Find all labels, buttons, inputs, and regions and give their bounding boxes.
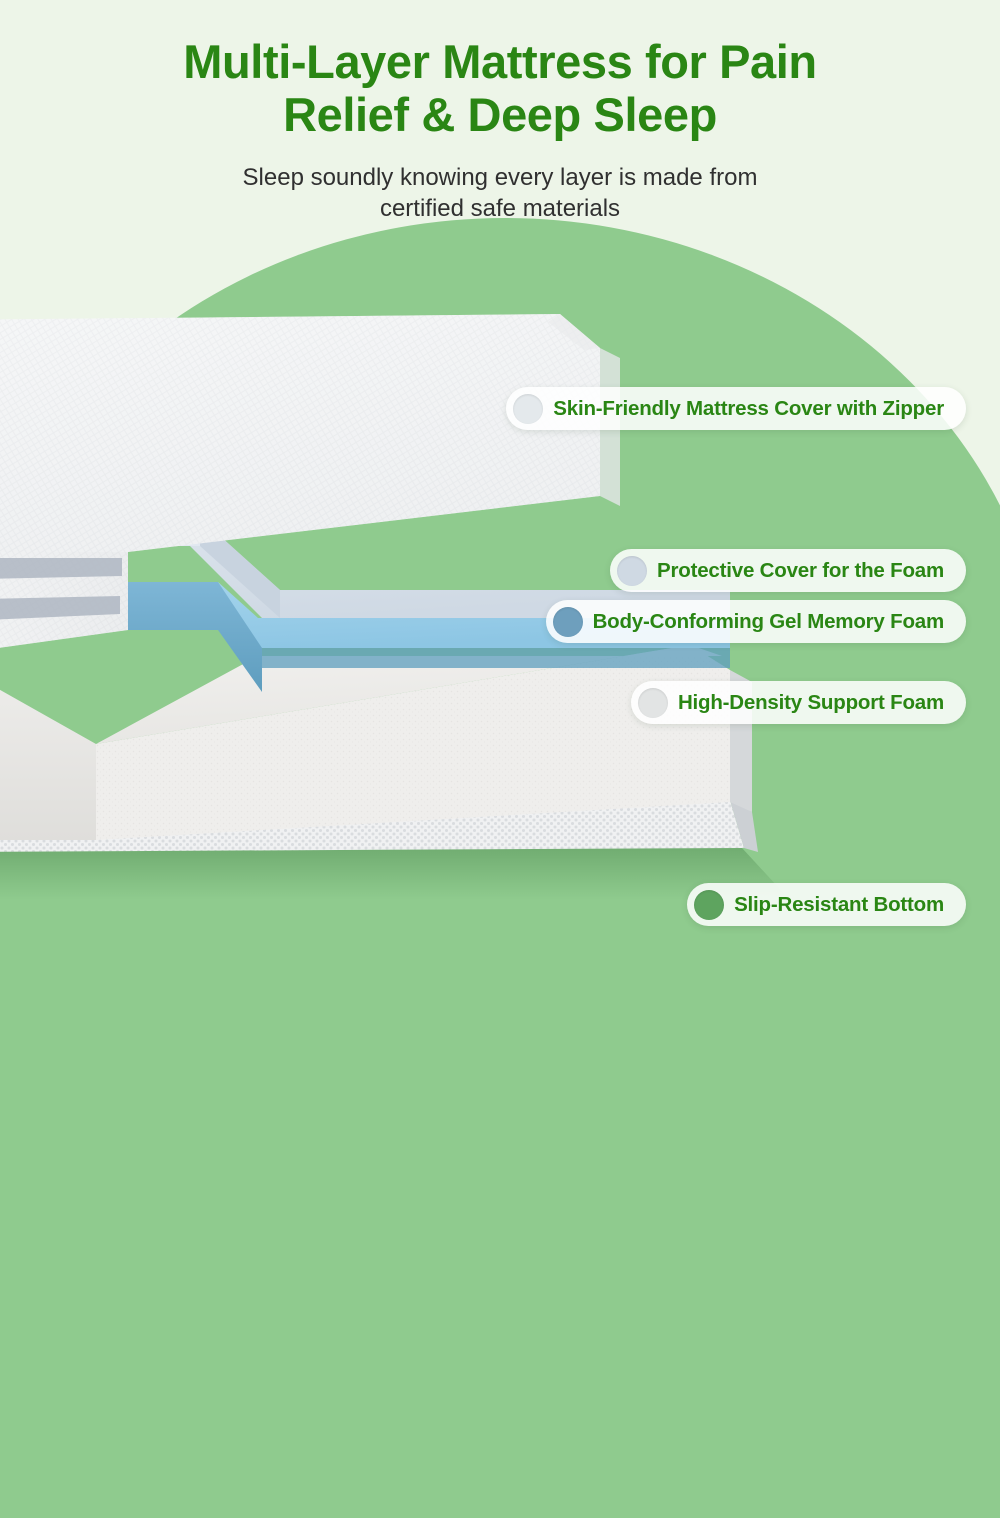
page-subtitle-line-1: Sleep soundly knowing every layer is mad… bbox=[0, 163, 1000, 194]
callout-cover[interactable]: Skin-Friendly Mattress Cover with Zipper bbox=[506, 387, 966, 430]
callout-label: High-Density Support Foam bbox=[678, 691, 944, 715]
mattress-shadow bbox=[0, 848, 790, 900]
support-foam-front-face bbox=[0, 656, 96, 840]
layer-marker-icon bbox=[513, 394, 543, 424]
layer-marker-icon bbox=[638, 688, 668, 718]
callout-protective-cover[interactable]: Protective Cover for the Foam bbox=[610, 549, 966, 592]
page-title: Multi-Layer Mattress for Pain Relief & D… bbox=[0, 36, 1000, 141]
page-subtitle: Sleep soundly knowing every layer is mad… bbox=[0, 163, 1000, 224]
callout-label: Body-Conforming Gel Memory Foam bbox=[593, 610, 944, 634]
callout-gel-memory-foam[interactable]: Body-Conforming Gel Memory Foam bbox=[546, 600, 966, 643]
callout-slip-resistant-bottom[interactable]: Slip-Resistant Bottom bbox=[687, 883, 966, 926]
callout-label: Slip-Resistant Bottom bbox=[734, 893, 944, 917]
gel-foam-inner-edge bbox=[262, 648, 730, 668]
page-title-line-2: Relief & Deep Sleep bbox=[0, 89, 1000, 142]
page-title-line-1: Multi-Layer Mattress for Pain bbox=[0, 36, 1000, 89]
infographic-stage: Multi-Layer Mattress for Pain Relief & D… bbox=[0, 0, 1000, 1000]
callout-label: Protective Cover for the Foam bbox=[657, 559, 944, 583]
header: Multi-Layer Mattress for Pain Relief & D… bbox=[0, 36, 1000, 225]
layer-marker-icon bbox=[553, 607, 583, 637]
layer-marker-icon bbox=[694, 890, 724, 920]
mattress-top-cover-shading bbox=[0, 314, 600, 552]
layer-marker-icon bbox=[617, 556, 647, 586]
callout-support-foam[interactable]: High-Density Support Foam bbox=[631, 681, 966, 724]
callout-label: Skin-Friendly Mattress Cover with Zipper bbox=[553, 397, 944, 421]
page-subtitle-line-2: certified safe materials bbox=[0, 194, 1000, 225]
